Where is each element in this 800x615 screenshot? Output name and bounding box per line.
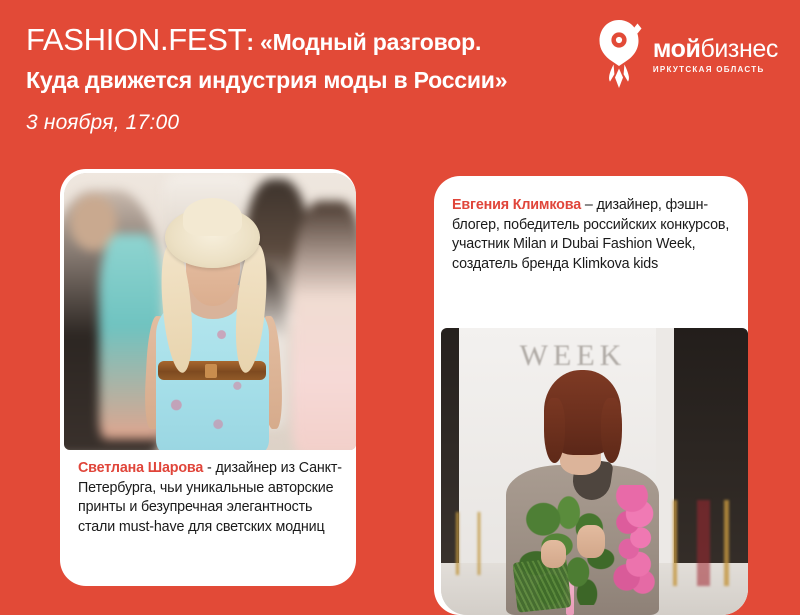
event-brand-name: FASHION.FEST — [26, 22, 246, 57]
event-title-suffix: : «Модный разговор. — [246, 29, 481, 55]
event-datetime: 3 ноября, 17:00 — [26, 110, 586, 136]
event-title-line-2: Куда движется индустрия моды в России» — [26, 64, 586, 96]
poster-root: FASHION.FEST: «Модный разговор. Куда дви… — [0, 0, 800, 615]
poster-header: FASHION.FEST: «Модный разговор. Куда дви… — [0, 0, 800, 160]
logo-text-block: мойбизнес ИРКУТСКАЯ ОБЛАСТЬ — [653, 32, 778, 76]
logo-word-light: бизнес — [700, 35, 778, 63]
rocket-pin-icon — [593, 18, 645, 90]
title-block: FASHION.FEST: «Модный разговор. Куда дви… — [26, 23, 586, 136]
speaker-photo-svetlana-sharova — [64, 173, 356, 450]
event-title-line-1: FASHION.FEST: «Модный разговор. — [26, 23, 586, 59]
speaker-card-evgenia-klimkova: Евгения Климкова – дизайнер, фэшн-блогер… — [434, 176, 748, 615]
logo-word-bold: мой — [653, 35, 701, 63]
moy-biznes-logo: мойбизнес ИРКУТСКАЯ ОБЛАСТЬ — [593, 17, 778, 91]
speaker-bio-evgenia-klimkova: Евгения Климкова – дизайнер, фэшн-блогер… — [452, 196, 732, 274]
speaker-photo-evgenia-klimkova: WEEK — [441, 328, 748, 615]
speaker-card-svetlana-sharova: Светлана Шарова - дизайнер из Санкт-Пете… — [60, 169, 356, 586]
logo-region-subtitle: ИРКУТСКАЯ ОБЛАСТЬ — [653, 64, 778, 76]
speaker-name-evgenia-klimkova: Евгения Климкова — [452, 197, 581, 213]
logo-wordmark: мойбизнес — [653, 36, 778, 63]
speaker-bio-svetlana-sharova: Светлана Шарова - дизайнер из Санкт-Пете… — [78, 459, 346, 537]
speaker-name-svetlana-sharova: Светлана Шарова — [78, 460, 203, 476]
